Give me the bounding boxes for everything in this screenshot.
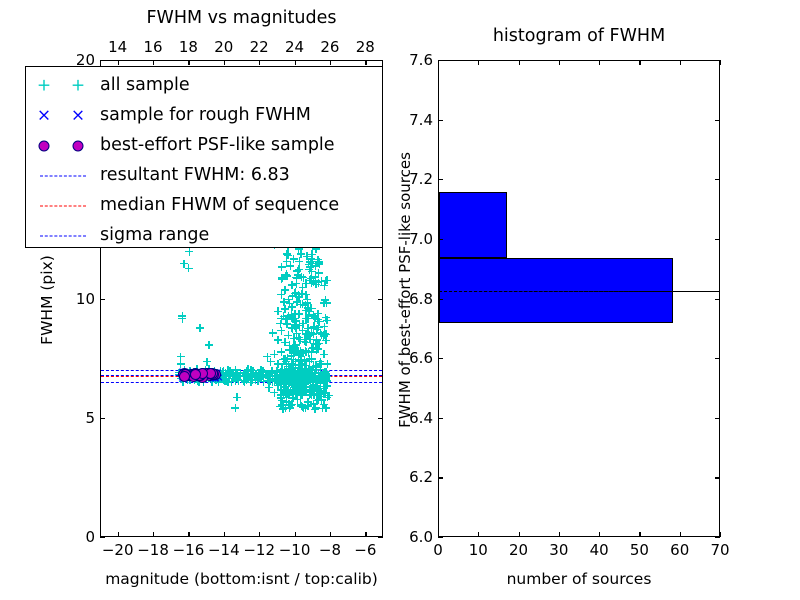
marker-plus (231, 376, 239, 384)
marker-cross (197, 369, 205, 377)
marker-cross (188, 372, 196, 380)
marker-plus (234, 369, 242, 377)
marker-cross (185, 368, 193, 376)
marker-plus (303, 383, 311, 391)
marker-plus (295, 266, 303, 274)
axis-tick-label: 20 (509, 541, 528, 559)
reference-line-dashdot (101, 370, 382, 371)
axis-tick-mark (118, 532, 119, 537)
marker-plus (277, 386, 285, 394)
marker-cross (208, 371, 216, 379)
marker-plus (277, 291, 285, 299)
marker-plus (219, 367, 227, 375)
marker-plus (183, 376, 191, 384)
legend-row: resultant FWHM: 6.83 (26, 161, 382, 191)
marker-plus (292, 389, 300, 397)
marker-plus (286, 404, 294, 412)
marker-plus (302, 338, 310, 346)
marker-plus (299, 390, 307, 398)
legend-marker-dashed-line (40, 206, 86, 207)
marker-cross (194, 371, 202, 379)
axis-tick-mark (100, 537, 105, 538)
marker-cross (181, 368, 189, 376)
marker-plus (301, 356, 309, 364)
marker-plus (243, 375, 251, 383)
marker-circle (180, 369, 191, 380)
marker-plus (279, 369, 287, 377)
histogram-bar (439, 192, 507, 258)
marker-plus (277, 327, 285, 335)
axis-tick-mark (100, 60, 105, 61)
marker-plus (175, 370, 183, 378)
axis-tick-label: 40 (590, 541, 609, 559)
marker-plus (297, 369, 305, 377)
marker-plus (320, 400, 328, 408)
legend-handle: ×× (26, 101, 100, 131)
marker-plus (287, 314, 295, 322)
marker-plus (290, 346, 298, 354)
marker-plus (293, 391, 301, 399)
marker-plus (280, 401, 288, 409)
marker-plus (299, 379, 307, 387)
marker-plus (177, 353, 185, 361)
marker-plus (303, 295, 311, 303)
marker-plus (279, 355, 287, 363)
marker-circle (207, 368, 218, 379)
marker-cross (187, 372, 195, 380)
marker-plus (289, 364, 297, 372)
marker-plus (263, 373, 271, 381)
marker-plus (307, 366, 315, 374)
marker-plus (185, 264, 193, 272)
marker-cross (195, 374, 203, 382)
marker-plus (289, 325, 297, 333)
marker-plus (306, 377, 314, 385)
marker-plus (249, 376, 257, 384)
marker-plus (255, 373, 263, 381)
marker-plus (295, 348, 303, 356)
marker-plus (287, 368, 295, 376)
marker-plus (299, 320, 307, 328)
marker-plus (228, 378, 236, 386)
marker-plus (275, 378, 283, 386)
marker-cross (194, 371, 202, 379)
histogram-plot-axes (438, 60, 720, 537)
marker-circle (186, 369, 197, 380)
marker-plus (301, 368, 309, 376)
marker-cross (212, 369, 220, 377)
marker-plus (214, 375, 222, 383)
marker-plus (185, 373, 193, 381)
marker-plus (306, 370, 314, 378)
axis-tick-mark (715, 537, 720, 538)
marker-plus (311, 378, 319, 386)
marker-cross (208, 370, 216, 378)
marker-cross (197, 374, 205, 382)
marker-plus (281, 383, 289, 391)
marker-plus (301, 369, 309, 377)
marker-plus (318, 373, 326, 381)
marker-plus (289, 386, 297, 394)
marker-plus (308, 259, 316, 267)
marker-plus (297, 388, 305, 396)
marker-plus (292, 370, 300, 378)
axis-tick-label: 50 (630, 541, 649, 559)
marker-plus (286, 262, 294, 270)
marker-plus (291, 322, 299, 330)
marker-plus (291, 371, 299, 379)
marker-cross (189, 372, 197, 380)
marker-plus (304, 377, 312, 385)
marker-plus (321, 369, 329, 377)
axis-tick-mark (100, 418, 105, 419)
marker-plus (325, 392, 333, 400)
axis-tick-label: 24 (285, 38, 304, 56)
axis-tick-label: −18 (137, 541, 169, 559)
marker-plus (257, 366, 265, 374)
marker-plus (303, 299, 311, 307)
marker-plus (305, 266, 313, 274)
marker-plus (293, 372, 301, 380)
marker-plus (292, 274, 300, 282)
marker-plus (302, 348, 310, 356)
marker-plus (308, 385, 316, 393)
axis-tick-mark (715, 477, 720, 478)
marker-plus (323, 393, 331, 401)
legend-marker-circle (73, 141, 84, 152)
marker-plus (292, 389, 300, 397)
marker-cross (214, 369, 222, 377)
marker-plus (283, 257, 291, 265)
marker-plus (285, 341, 293, 349)
marker-circle (196, 369, 207, 380)
marker-plus (266, 377, 274, 385)
marker-plus (283, 387, 291, 395)
marker-plus (230, 372, 238, 380)
figure-canvas: FWHM vs magnitudes 1416182022242628 −20−… (0, 0, 800, 600)
marker-plus (218, 368, 226, 376)
marker-plus (280, 381, 288, 389)
marker-cross (184, 369, 192, 377)
marker-plus (282, 376, 290, 384)
marker-plus (298, 374, 306, 382)
marker-plus (221, 377, 229, 385)
axis-tick-mark (680, 60, 681, 65)
marker-circle (197, 372, 208, 383)
marker-plus (286, 378, 294, 386)
marker-cross (187, 369, 195, 377)
marker-plus (179, 378, 187, 386)
marker-plus (278, 274, 286, 282)
marker-cross (200, 369, 208, 377)
marker-circle (194, 369, 205, 380)
marker-plus (281, 368, 289, 376)
marker-plus (271, 377, 279, 385)
marker-plus (180, 260, 188, 268)
marker-plus (293, 348, 301, 356)
marker-plus (295, 291, 303, 299)
marker-plus (208, 372, 216, 380)
marker-plus (309, 377, 317, 385)
marker-plus (306, 370, 314, 378)
marker-plus (301, 383, 309, 391)
marker-plus (276, 376, 284, 384)
histogram-bar (439, 258, 673, 324)
marker-plus (267, 358, 275, 366)
marker-plus (260, 378, 268, 386)
marker-plus (185, 369, 193, 377)
marker-plus (298, 273, 306, 281)
marker-plus (274, 381, 282, 389)
marker-plus (308, 370, 316, 378)
marker-plus (302, 368, 310, 376)
legend-label: median FHWM of sequence (100, 197, 339, 215)
marker-cross (187, 370, 195, 378)
marker-plus (299, 327, 307, 335)
marker-plus (258, 372, 266, 380)
marker-plus (243, 367, 251, 375)
axis-tick-mark (599, 532, 600, 537)
marker-plus (277, 392, 285, 400)
marker-plus (208, 369, 216, 377)
marker-plus (186, 373, 194, 381)
marker-plus (295, 375, 303, 383)
marker-plus (309, 378, 317, 386)
marker-plus (277, 368, 285, 376)
marker-plus (283, 370, 291, 378)
axis-tick-mark (715, 358, 720, 359)
marker-plus (288, 360, 296, 368)
marker-plus (314, 316, 322, 324)
marker-plus (232, 371, 240, 379)
marker-circle (194, 370, 205, 381)
marker-plus (258, 367, 266, 375)
legend-row: sigma range (26, 221, 382, 251)
marker-plus (321, 368, 329, 376)
legend-marker-circle (39, 141, 50, 152)
marker-plus (288, 352, 296, 360)
marker-plus (295, 385, 303, 393)
marker-plus (288, 373, 296, 381)
axis-tick-mark (438, 60, 439, 65)
marker-plus (198, 369, 206, 377)
marker-plus (282, 379, 290, 387)
marker-cross (195, 370, 203, 378)
marker-plus (280, 378, 288, 386)
marker-plus (310, 391, 318, 399)
marker-plus (280, 312, 288, 320)
marker-plus (282, 367, 290, 375)
marker-plus (315, 340, 323, 348)
marker-plus (303, 375, 311, 383)
axis-tick-label: 70 (710, 541, 729, 559)
marker-plus (304, 373, 312, 381)
marker-plus (309, 382, 317, 390)
marker-cross (200, 369, 208, 377)
marker-plus (302, 291, 310, 299)
marker-plus (244, 365, 252, 373)
marker-circle (197, 368, 208, 379)
marker-cross (178, 371, 186, 379)
marker-plus (292, 341, 300, 349)
legend-handle (26, 221, 100, 251)
marker-plus (216, 367, 224, 375)
marker-plus (310, 339, 318, 347)
marker-cross (180, 373, 188, 381)
marker-plus (307, 275, 315, 283)
marker-plus (193, 373, 201, 381)
marker-plus (278, 397, 286, 405)
marker-plus (252, 373, 260, 381)
axis-tick-label: 6.6 (313, 349, 433, 367)
marker-plus (280, 374, 288, 382)
axis-tick-label: 0 (0, 528, 95, 546)
marker-plus (317, 376, 325, 384)
marker-plus (307, 372, 315, 380)
axis-tick-mark (153, 532, 154, 537)
marker-plus (306, 386, 314, 394)
marker-cross (194, 371, 202, 379)
marker-plus (302, 368, 310, 376)
marker-plus (255, 370, 263, 378)
marker-plus (288, 303, 296, 311)
marker-plus (280, 369, 288, 377)
marker-plus (256, 372, 264, 380)
marker-cross (189, 368, 197, 376)
marker-plus (183, 371, 191, 379)
marker-plus (305, 349, 313, 357)
marker-plus (304, 324, 312, 332)
axis-tick-mark (438, 477, 443, 478)
marker-plus (278, 275, 286, 283)
marker-plus (317, 372, 325, 380)
marker-plus (241, 378, 249, 386)
marker-plus (279, 377, 287, 385)
marker-plus (292, 358, 300, 366)
axis-tick-label: 60 (670, 541, 689, 559)
marker-plus (285, 346, 293, 354)
marker-cross (204, 370, 212, 378)
marker-plus (296, 322, 304, 330)
marker-circle (202, 369, 213, 380)
marker-plus (297, 391, 305, 399)
marker-cross (199, 369, 207, 377)
marker-cross (194, 374, 202, 382)
marker-cross (185, 374, 193, 382)
marker-plus (226, 369, 234, 377)
marker-plus (306, 307, 314, 315)
marker-plus (281, 390, 289, 398)
marker-plus (304, 402, 312, 410)
marker-plus (301, 404, 309, 412)
marker-plus (309, 388, 317, 396)
legend-handle: ++ (26, 71, 100, 101)
marker-plus (304, 365, 312, 373)
marker-plus (271, 376, 279, 384)
axis-tick-mark (438, 537, 443, 538)
marker-plus (317, 388, 325, 396)
marker-plus (282, 388, 290, 396)
marker-plus (311, 381, 319, 389)
marker-plus (286, 379, 294, 387)
marker-plus (307, 370, 315, 378)
marker-plus (175, 369, 183, 377)
marker-plus (293, 379, 301, 387)
marker-plus (194, 376, 202, 384)
marker-plus (274, 336, 282, 344)
marker-plus (281, 367, 289, 375)
marker-plus (297, 373, 305, 381)
legend-label: sample for rough FWHM (100, 107, 311, 125)
marker-plus (299, 368, 307, 376)
marker-plus (252, 370, 260, 378)
marker-plus (231, 404, 239, 412)
marker-cross (179, 369, 187, 377)
marker-plus (237, 372, 245, 380)
marker-plus (295, 310, 303, 318)
marker-plus (320, 333, 328, 341)
marker-plus (316, 393, 324, 401)
marker-plus (293, 298, 301, 306)
marker-plus (292, 320, 300, 328)
marker-plus (283, 390, 291, 398)
marker-plus (219, 371, 227, 379)
marker-plus (207, 371, 215, 379)
marker-plus (208, 378, 216, 386)
marker-plus (299, 360, 307, 368)
marker-cross (192, 371, 200, 379)
marker-plus (292, 280, 300, 288)
marker-cross (205, 369, 213, 377)
marker-plus (298, 377, 306, 385)
marker-cross (200, 369, 208, 377)
marker-plus (286, 372, 294, 380)
marker-cross (200, 368, 208, 376)
marker-plus (306, 258, 314, 266)
marker-plus (251, 372, 259, 380)
marker-plus (309, 324, 317, 332)
marker-cross (205, 371, 213, 379)
marker-plus (222, 369, 230, 377)
histogram-reference-line-extension (439, 291, 719, 292)
marker-plus (195, 378, 203, 386)
marker-plus (281, 272, 289, 280)
marker-plus (291, 289, 299, 297)
legend-label: best-effort PSF-like sample (100, 137, 335, 155)
marker-plus (202, 366, 210, 374)
axis-tick-mark (639, 60, 640, 65)
axis-tick-mark (438, 239, 443, 240)
marker-plus (300, 377, 308, 385)
marker-plus (308, 387, 316, 395)
marker-plus (179, 373, 187, 381)
marker-plus (304, 375, 312, 383)
marker-plus (297, 374, 305, 382)
axis-tick-mark (715, 239, 720, 240)
marker-circle (201, 368, 212, 379)
marker-circle (192, 370, 203, 381)
marker-plus (275, 375, 283, 383)
marker-cross (178, 368, 186, 376)
marker-plus (222, 377, 230, 385)
marker-plus (283, 390, 291, 398)
marker-plus (268, 378, 276, 386)
marker-plus (285, 400, 293, 408)
marker-plus (299, 404, 307, 412)
marker-cross (179, 368, 187, 376)
marker-plus (216, 372, 224, 380)
marker-circle (194, 370, 205, 381)
